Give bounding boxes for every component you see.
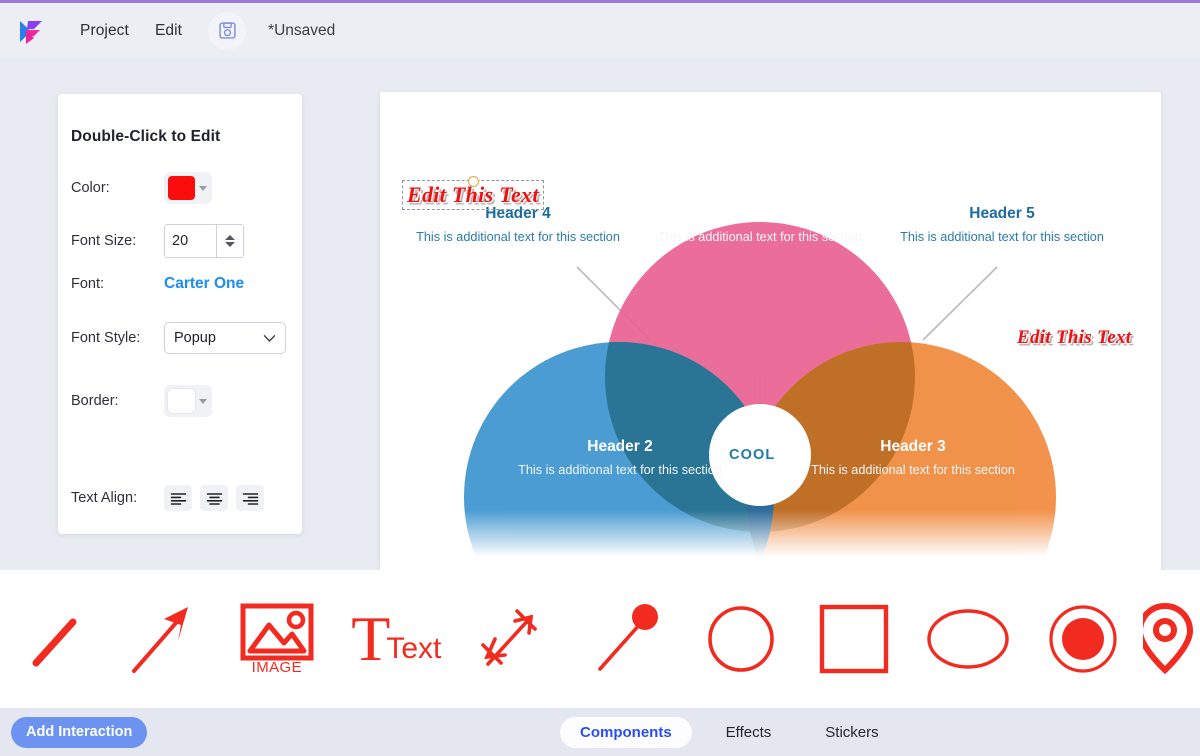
text-align-label: Text Align:: [71, 490, 164, 506]
spinner-up-icon[interactable]: [225, 235, 235, 240]
image-icon: [240, 603, 314, 661]
text-align-group: [164, 485, 264, 511]
bottom-tabs: Components Effects Stickers: [560, 717, 899, 748]
text-tool[interactable]: T Text: [337, 612, 457, 666]
ellipse-outline-tool[interactable]: [911, 606, 1026, 672]
arrow-icon: [124, 599, 200, 679]
add-interaction-button[interactable]: Add Interaction: [11, 717, 147, 748]
map-pin-tool[interactable]: [1140, 600, 1200, 678]
map-pin-icon: [1143, 600, 1197, 678]
font-style-value: Popup: [174, 330, 216, 346]
unsaved-status: *Unsaved: [268, 22, 335, 40]
image-tool-caption: IMAGE: [252, 659, 302, 676]
app-logo[interactable]: [8, 10, 54, 52]
app-logo-icon: [14, 14, 48, 48]
canvas-text-object-selected[interactable]: Edit This Text: [402, 180, 544, 210]
align-center-button[interactable]: [200, 485, 228, 511]
tab-effects[interactable]: Effects: [706, 717, 792, 748]
text-align-row: Text Align:: [71, 485, 264, 511]
save-disk-icon: [218, 21, 237, 40]
venn-section-4[interactable]: Header 4 This is additional text for thi…: [403, 204, 633, 246]
font-size-stepper[interactable]: [164, 224, 244, 258]
image-tool[interactable]: IMAGE: [217, 603, 337, 676]
menu-edit[interactable]: Edit: [155, 22, 182, 40]
text-tool-caption: Text: [386, 632, 441, 666]
text-icon: T: [351, 612, 390, 666]
section-body: This is additional text for this section: [798, 462, 1028, 479]
font-style-row: Font Style: Popup: [71, 322, 286, 354]
font-size-input[interactable]: [165, 225, 216, 257]
font-size-label: Font Size:: [71, 233, 164, 249]
border-swatch: [168, 389, 195, 413]
square-outline-icon: [818, 603, 890, 675]
circle-filled-icon: [1048, 604, 1118, 674]
venn-section-5[interactable]: Header 5 This is additional text for thi…: [887, 204, 1117, 246]
circle-outline-icon: [705, 603, 777, 675]
section-header: Header 2: [505, 437, 735, 457]
section-body: This is additional text for this section: [645, 229, 875, 246]
bottom-bar: Add Interaction Components Effects Stick…: [0, 708, 1200, 756]
arrow-tool[interactable]: [108, 599, 218, 679]
circle-outline-tool[interactable]: [685, 603, 797, 675]
properties-panel: Double-Click to Edit Color: Font Size: F…: [58, 94, 302, 534]
venn-center-label[interactable]: COOL: [729, 447, 775, 463]
font-style-label: Font Style:: [71, 330, 164, 346]
workspace: Double-Click to Edit Color: Font Size: F…: [0, 58, 1200, 570]
section-header: Header 3: [798, 437, 1028, 457]
pin-line-icon: [590, 599, 666, 679]
align-right-icon: [242, 492, 259, 505]
chevron-down-icon: [263, 334, 276, 343]
color-picker[interactable]: [164, 172, 212, 204]
chevron-down-icon: [199, 399, 207, 404]
menu-bar: Project Edit *Unsaved: [0, 3, 1200, 58]
font-size-spinner[interactable]: [216, 225, 243, 257]
color-swatch: [168, 176, 195, 200]
border-picker[interactable]: [164, 385, 212, 417]
chevron-down-icon: [199, 186, 207, 191]
font-row: Font: Carter One: [71, 275, 244, 293]
tab-stickers[interactable]: Stickers: [805, 717, 898, 748]
ellipse-outline-icon: [925, 606, 1011, 672]
circle-filled-tool[interactable]: [1026, 604, 1141, 674]
section-body: This is additional text for this section: [403, 229, 633, 246]
border-label: Border:: [71, 393, 164, 409]
menu-project[interactable]: Project: [80, 22, 129, 40]
canvas-text-value: Edit This Text: [1017, 327, 1131, 349]
color-row: Color:: [71, 172, 212, 204]
section-body: This is additional text for this section: [505, 462, 735, 479]
design-canvas[interactable]: Header 1 This is additional text for thi…: [380, 92, 1161, 570]
venn-section-2[interactable]: Header 2 This is additional text for thi…: [505, 437, 735, 479]
double-arrow-icon: [473, 599, 553, 679]
font-size-row: Font Size:: [71, 224, 244, 258]
font-label: Font:: [71, 276, 164, 292]
color-label: Color:: [71, 180, 164, 196]
panel-title: Double-Click to Edit: [71, 128, 220, 146]
font-style-select[interactable]: Popup: [164, 322, 286, 354]
align-center-icon: [206, 492, 223, 505]
align-left-button[interactable]: [164, 485, 192, 511]
section-body: This is additional text for this section: [887, 229, 1117, 246]
double-arrow-tool[interactable]: [456, 599, 571, 679]
align-right-button[interactable]: [236, 485, 264, 511]
line-icon: [21, 601, 87, 677]
tab-components[interactable]: Components: [560, 717, 692, 748]
align-left-icon: [170, 492, 187, 505]
shape-tool-list: IMAGE T Text: [0, 570, 1200, 708]
section-header: Header 5: [887, 204, 1117, 224]
line-tool[interactable]: [0, 601, 108, 677]
border-row: Border:: [71, 385, 212, 417]
section-header: Header 1: [645, 204, 875, 224]
shape-toolbar: IMAGE T Text: [0, 570, 1200, 708]
font-value-link[interactable]: Carter One: [164, 275, 244, 293]
venn-section-3[interactable]: Header 3 This is additional text for thi…: [798, 437, 1028, 479]
square-outline-tool[interactable]: [797, 603, 912, 675]
canvas-text-object[interactable]: Edit This Text: [1017, 327, 1131, 349]
save-button[interactable]: [208, 12, 246, 50]
venn-section-1[interactable]: Header 1 This is additional text for thi…: [645, 204, 875, 246]
spinner-down-icon[interactable]: [225, 242, 235, 247]
pin-line-tool[interactable]: [571, 599, 686, 679]
